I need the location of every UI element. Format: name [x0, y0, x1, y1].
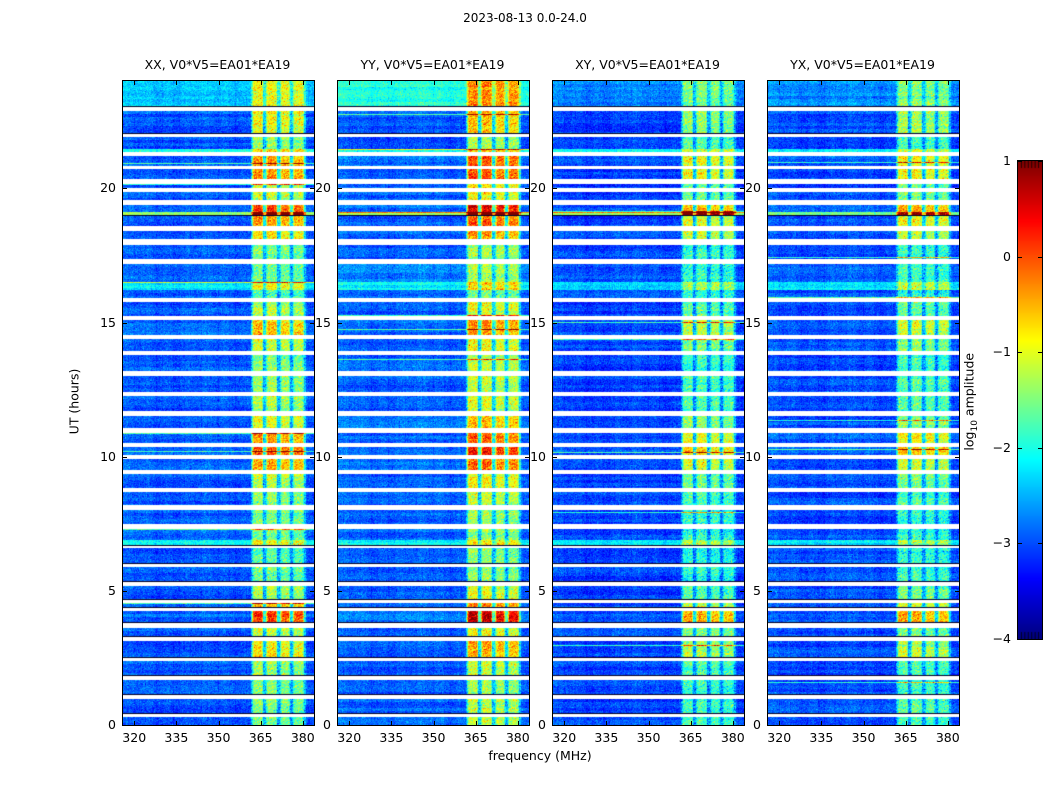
- y-axis-label: UT (hours): [67, 322, 82, 482]
- y-tick-mark: [768, 591, 772, 592]
- y-tick-label: 0: [727, 718, 761, 732]
- colorbar-label-suffix: amplitude: [961, 353, 976, 420]
- x-tick-mark: [649, 721, 650, 725]
- x-tick-label: 320: [329, 731, 369, 745]
- x-tick-mark: [219, 81, 220, 85]
- y-tick-mark: [955, 188, 959, 189]
- y-tick-label: 20: [297, 181, 331, 195]
- colorbar-tick-label: −4: [975, 632, 1011, 646]
- colorbar-label: log10 amplitude: [961, 312, 983, 492]
- y-tick-mark: [955, 457, 959, 458]
- x-tick-mark: [391, 721, 392, 725]
- x-tick-label: 380: [283, 731, 323, 745]
- x-tick-mark: [606, 81, 607, 85]
- dynamic-spectrum-xx: [123, 81, 314, 725]
- x-tick-mark: [261, 721, 262, 725]
- panel-xy[interactable]: [552, 80, 745, 726]
- x-tick-label: 380: [928, 731, 968, 745]
- x-tick-label: 335: [156, 731, 196, 745]
- y-tick-mark: [123, 188, 127, 189]
- x-tick-label: 335: [371, 731, 411, 745]
- y-tick-label: 5: [82, 584, 116, 598]
- panel-yy[interactable]: [337, 80, 530, 726]
- colorbar-tick-mark: [1018, 257, 1022, 258]
- x-tick-mark: [476, 81, 477, 85]
- colorbar-tick-label: −3: [975, 536, 1011, 550]
- x-tick-mark: [303, 81, 304, 85]
- x-tick-mark: [864, 81, 865, 85]
- colorbar-tick-mark: [1018, 543, 1022, 544]
- colorbar-tick-mark: [1038, 639, 1042, 640]
- x-tick-mark: [134, 81, 135, 85]
- x-tick-mark: [349, 81, 350, 85]
- y-tick-mark: [338, 591, 342, 592]
- x-tick-mark: [691, 81, 692, 85]
- x-tick-label: 380: [498, 731, 538, 745]
- dynamic-spectrum-xy: [553, 81, 744, 725]
- x-tick-label: 365: [456, 731, 496, 745]
- y-tick-label: 10: [727, 450, 761, 464]
- y-tick-label: 5: [512, 584, 546, 598]
- colorbar-tick-mark: [1038, 161, 1042, 162]
- x-tick-mark: [606, 721, 607, 725]
- colorbar-tick-mark: [1018, 352, 1022, 353]
- y-tick-label: 15: [512, 316, 546, 330]
- y-tick-mark: [123, 457, 127, 458]
- x-tick-label: 320: [759, 731, 799, 745]
- figure-canvas: 2023-08-13 0.0-24.0 XX, V0*V5=EA01*EA193…: [0, 0, 1050, 800]
- y-tick-label: 20: [512, 181, 546, 195]
- x-tick-mark: [864, 721, 865, 725]
- y-tick-label: 20: [727, 181, 761, 195]
- y-tick-label: 5: [727, 584, 761, 598]
- y-tick-mark: [123, 725, 127, 726]
- colorbar-tick-mark: [1038, 257, 1042, 258]
- y-tick-mark: [768, 457, 772, 458]
- x-tick-mark: [906, 721, 907, 725]
- panel-yx[interactable]: [767, 80, 960, 726]
- y-tick-mark: [123, 591, 127, 592]
- x-tick-label: 380: [713, 731, 753, 745]
- colorbar-tick-mark: [1038, 543, 1042, 544]
- x-tick-label: 350: [199, 731, 239, 745]
- x-tick-label: 350: [844, 731, 884, 745]
- x-tick-label: 365: [671, 731, 711, 745]
- x-tick-label: 350: [629, 731, 669, 745]
- y-tick-mark: [553, 323, 557, 324]
- x-tick-label: 365: [241, 731, 281, 745]
- colorbar-tick-mark: [1018, 639, 1022, 640]
- x-tick-label: 335: [586, 731, 626, 745]
- x-tick-mark: [176, 721, 177, 725]
- y-tick-label: 10: [82, 450, 116, 464]
- dynamic-spectrum-yy: [338, 81, 529, 725]
- x-tick-label: 320: [114, 731, 154, 745]
- x-tick-label: 350: [414, 731, 454, 745]
- y-tick-label: 15: [297, 316, 331, 330]
- y-tick-mark: [955, 725, 959, 726]
- x-tick-mark: [434, 721, 435, 725]
- y-tick-label: 0: [512, 718, 546, 732]
- y-tick-mark: [123, 323, 127, 324]
- x-tick-mark: [779, 81, 780, 85]
- x-tick-mark: [564, 81, 565, 85]
- y-tick-mark: [338, 323, 342, 324]
- y-tick-label: 0: [297, 718, 331, 732]
- colorbar-tick-mark: [1018, 448, 1022, 449]
- colorbar-gradient: [1018, 161, 1042, 639]
- colorbar-tick-label: 0: [975, 250, 1011, 264]
- y-tick-label: 10: [297, 450, 331, 464]
- panel-title-yx: YX, V0*V5=EA01*EA19: [727, 58, 998, 72]
- figure-suptitle: 2023-08-13 0.0-24.0: [0, 11, 1050, 25]
- x-tick-mark: [434, 81, 435, 85]
- y-tick-mark: [768, 725, 772, 726]
- x-tick-mark: [821, 81, 822, 85]
- y-tick-mark: [338, 188, 342, 189]
- x-tick-mark: [349, 721, 350, 725]
- y-tick-mark: [553, 188, 557, 189]
- x-tick-label: 365: [886, 731, 926, 745]
- colorbar-tick-mark: [1038, 448, 1042, 449]
- x-tick-mark: [649, 81, 650, 85]
- x-tick-mark: [779, 721, 780, 725]
- y-tick-mark: [768, 188, 772, 189]
- x-tick-mark: [948, 81, 949, 85]
- x-tick-mark: [691, 721, 692, 725]
- colorbar-label-sub: 10: [970, 420, 980, 431]
- dynamic-spectrum-yx: [768, 81, 959, 725]
- y-tick-label: 10: [512, 450, 546, 464]
- panel-xx[interactable]: [122, 80, 315, 726]
- x-tick-mark: [391, 81, 392, 85]
- x-tick-mark: [219, 721, 220, 725]
- x-tick-mark: [261, 81, 262, 85]
- y-tick-label: 5: [297, 584, 331, 598]
- colorbar-tick-mark: [1038, 352, 1042, 353]
- x-axis-label: frequency (MHz): [390, 748, 690, 763]
- colorbar[interactable]: [1017, 160, 1043, 640]
- y-tick-label: 0: [82, 718, 116, 732]
- y-tick-label: 15: [82, 316, 116, 330]
- x-tick-label: 320: [544, 731, 584, 745]
- x-tick-mark: [906, 81, 907, 85]
- colorbar-label-prefix: log: [961, 432, 976, 451]
- y-tick-label: 15: [727, 316, 761, 330]
- x-tick-mark: [821, 721, 822, 725]
- y-tick-mark: [955, 323, 959, 324]
- x-tick-label: 335: [801, 731, 841, 745]
- y-tick-mark: [553, 591, 557, 592]
- x-tick-mark: [518, 81, 519, 85]
- x-tick-mark: [176, 81, 177, 85]
- y-tick-mark: [553, 457, 557, 458]
- x-tick-mark: [948, 721, 949, 725]
- y-tick-label: 20: [82, 181, 116, 195]
- y-tick-mark: [338, 725, 342, 726]
- x-tick-mark: [733, 81, 734, 85]
- x-tick-mark: [476, 721, 477, 725]
- colorbar-tick-mark: [1018, 161, 1022, 162]
- x-tick-mark: [564, 721, 565, 725]
- x-tick-mark: [134, 721, 135, 725]
- y-tick-mark: [553, 725, 557, 726]
- y-tick-mark: [338, 457, 342, 458]
- y-tick-mark: [955, 591, 959, 592]
- colorbar-tick-label: 1: [975, 154, 1011, 168]
- y-tick-mark: [768, 323, 772, 324]
